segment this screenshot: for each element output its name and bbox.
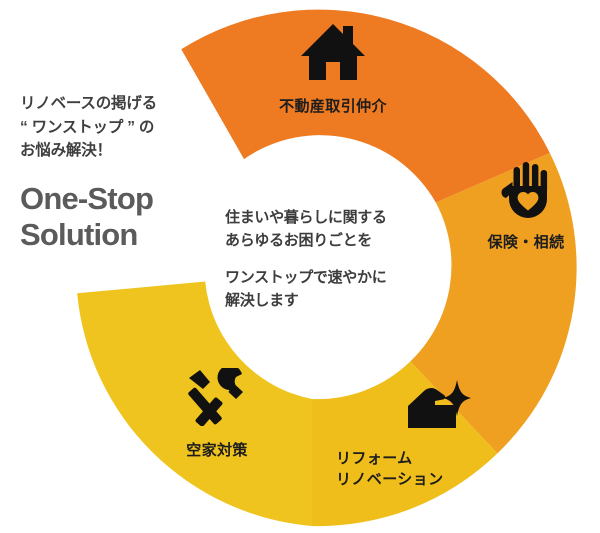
page-title-line-2: Solution bbox=[20, 217, 220, 253]
house-icon bbox=[248, 22, 418, 89]
segment-label-realestate: 不動産取引仲介 bbox=[248, 97, 418, 118]
hand-heart-icon bbox=[466, 158, 586, 225]
page-title: One-Stop Solution bbox=[20, 181, 220, 253]
one-stop-solution-infographic: リノベースの掲げる “ ワンストップ ” の お悩み解決！ One-Stop S… bbox=[0, 0, 600, 533]
segment-label-group-reform[interactable]: リフォーム リノベーション bbox=[336, 378, 496, 490]
lead-line-2: “ ワンストップ ” の bbox=[20, 116, 220, 140]
center-paragraph-2: ワンストップで速やかに 解決します bbox=[225, 266, 455, 313]
segment-label-insurance: 保険・相続 bbox=[466, 233, 586, 254]
lead-line-3: お悩み解決！ bbox=[20, 139, 220, 163]
segment-label-group-vacant[interactable]: 空家対策 bbox=[164, 368, 270, 462]
center-paragraph-1: 住まいや暮らしに関する あらゆるお困りごとを bbox=[225, 206, 455, 253]
house-sparkle-icon bbox=[402, 378, 496, 439]
left-text-block: リノベースの掲げる “ ワンストップ ” の お悩み解決！ One-Stop S… bbox=[20, 92, 220, 253]
segment-label-group-insurance[interactable]: 保険・相続 bbox=[466, 158, 586, 254]
lead-line-1: リノベースの掲げる bbox=[20, 92, 220, 116]
center-line-1: 住まいや暮らしに関する bbox=[225, 206, 455, 229]
center-line-3: ワンストップで速やかに bbox=[225, 266, 455, 289]
hammer-wrench-icon bbox=[164, 368, 270, 431]
segment-label-group-realestate[interactable]: 不動産取引仲介 bbox=[248, 22, 418, 118]
center-line-4: 解決します bbox=[225, 289, 455, 312]
center-line-2: あらゆるお困りごとを bbox=[225, 229, 455, 252]
segment-label-reform-line-1: リフォーム bbox=[336, 449, 496, 470]
page-title-line-1: One-Stop bbox=[20, 181, 220, 217]
center-text-block: 住まいや暮らしに関する あらゆるお困りごとを ワンストップで速やかに 解決します bbox=[225, 206, 455, 313]
segment-label-reform-line-2: リノベーション bbox=[336, 470, 496, 491]
segment-label-vacant: 空家対策 bbox=[164, 441, 270, 462]
